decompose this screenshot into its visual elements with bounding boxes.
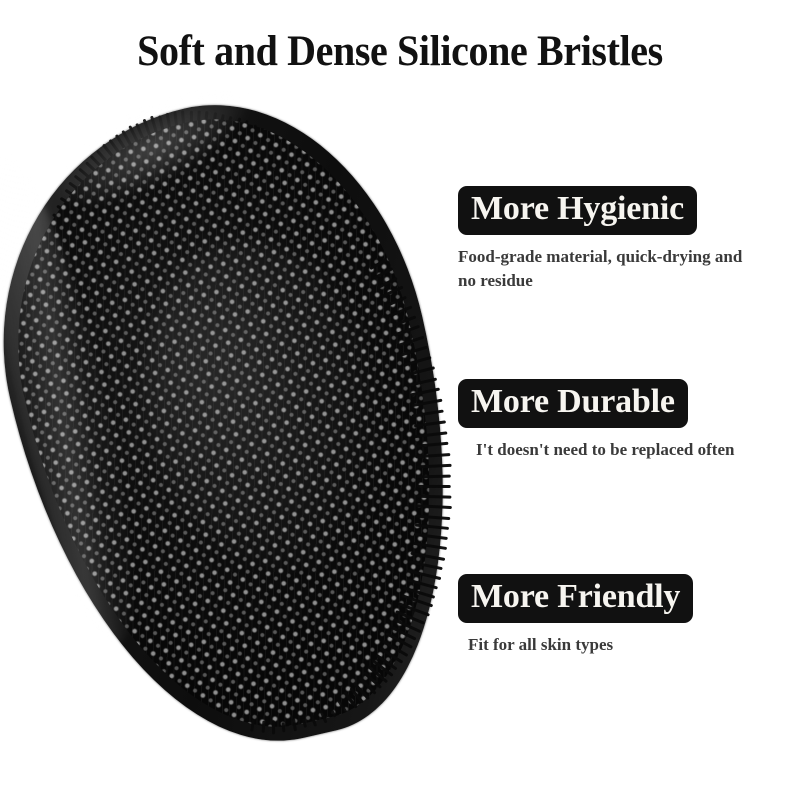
feature-block-durable: More Durable I't doesn't need to be repl…: [458, 379, 778, 462]
feature-badge-friendly: More Friendly: [458, 574, 693, 623]
feature-badge-durable: More Durable: [458, 379, 688, 428]
silicone-brush-pad: [0, 90, 480, 770]
feature-block-friendly: More Friendly Fit for all skin types: [458, 574, 778, 657]
product-image: [0, 90, 480, 770]
feature-description-durable: I't doesn't need to be replaced often: [476, 438, 776, 462]
product-infographic: Soft and Dense Silicone Bristles More Hy…: [0, 0, 800, 800]
feature-description-friendly: Fit for all skin types: [468, 633, 768, 657]
feature-badge-hygienic: More Hygienic: [458, 186, 697, 235]
feature-description-hygienic: Food-grade material, quick-drying and no…: [458, 245, 758, 293]
feature-block-hygienic: More Hygienic Food-grade material, quick…: [458, 186, 778, 293]
page-title: Soft and Dense Silicone Bristles: [28, 26, 772, 78]
